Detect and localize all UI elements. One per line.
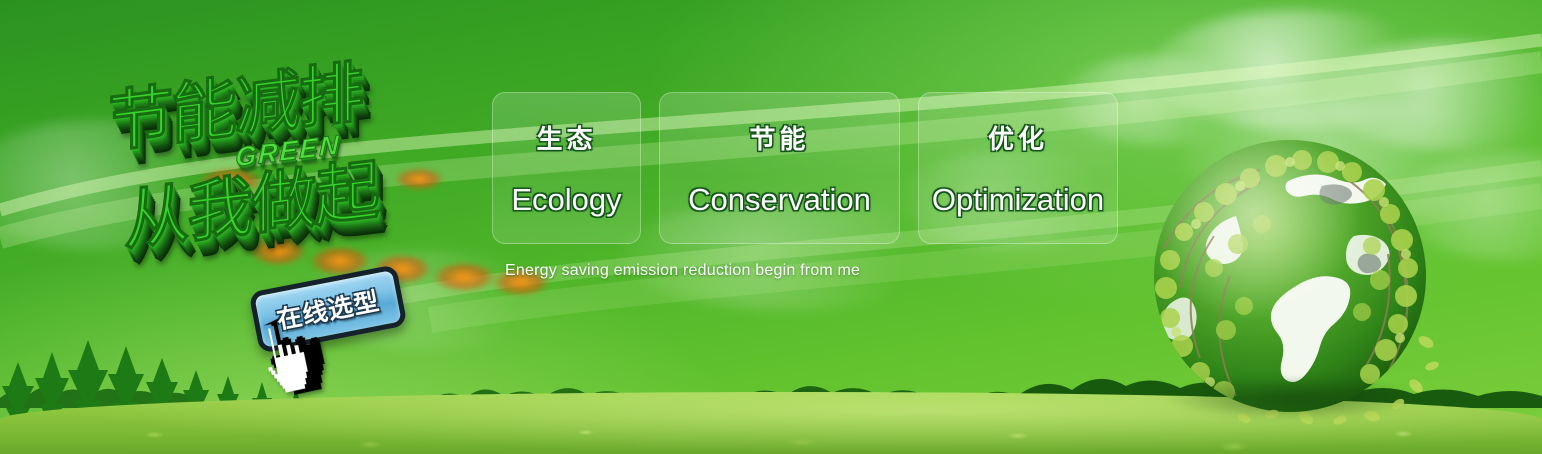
feature-card-cn-label: 生态 bbox=[536, 119, 596, 156]
feature-cards: 生态 Ecology 节能 Conservation 优化 Optimizati… bbox=[492, 92, 1118, 244]
feature-card-optimization[interactable]: 优化 Optimization bbox=[918, 92, 1118, 244]
ember-glow bbox=[433, 262, 495, 292]
feature-card-cn-label: 优化 bbox=[988, 119, 1048, 156]
feature-card-en-label: Conservation bbox=[688, 182, 871, 218]
globe-shadow bbox=[1162, 376, 1420, 420]
feature-card-ecology[interactable]: 生态 Ecology bbox=[492, 92, 641, 244]
banner-tagline: Energy saving emission reduction begin f… bbox=[505, 262, 860, 280]
feature-card-cn-label: 节能 bbox=[749, 119, 809, 156]
feature-card-en-label: Optimization bbox=[932, 182, 1104, 218]
green-energy-banner: 节能减排 GREEN 从我做起 在线选型 生态 Ecology 节能 Conse… bbox=[0, 0, 1542, 454]
ember-glow bbox=[395, 168, 443, 190]
pointing-hand-cursor-icon bbox=[238, 310, 331, 410]
feature-card-conservation[interactable]: 节能 Conservation bbox=[659, 92, 900, 244]
feature-card-en-label: Ecology bbox=[511, 182, 621, 218]
leafy-globe bbox=[1140, 128, 1440, 428]
headline-3d: 节能减排 GREEN 从我做起 bbox=[95, 40, 495, 270]
